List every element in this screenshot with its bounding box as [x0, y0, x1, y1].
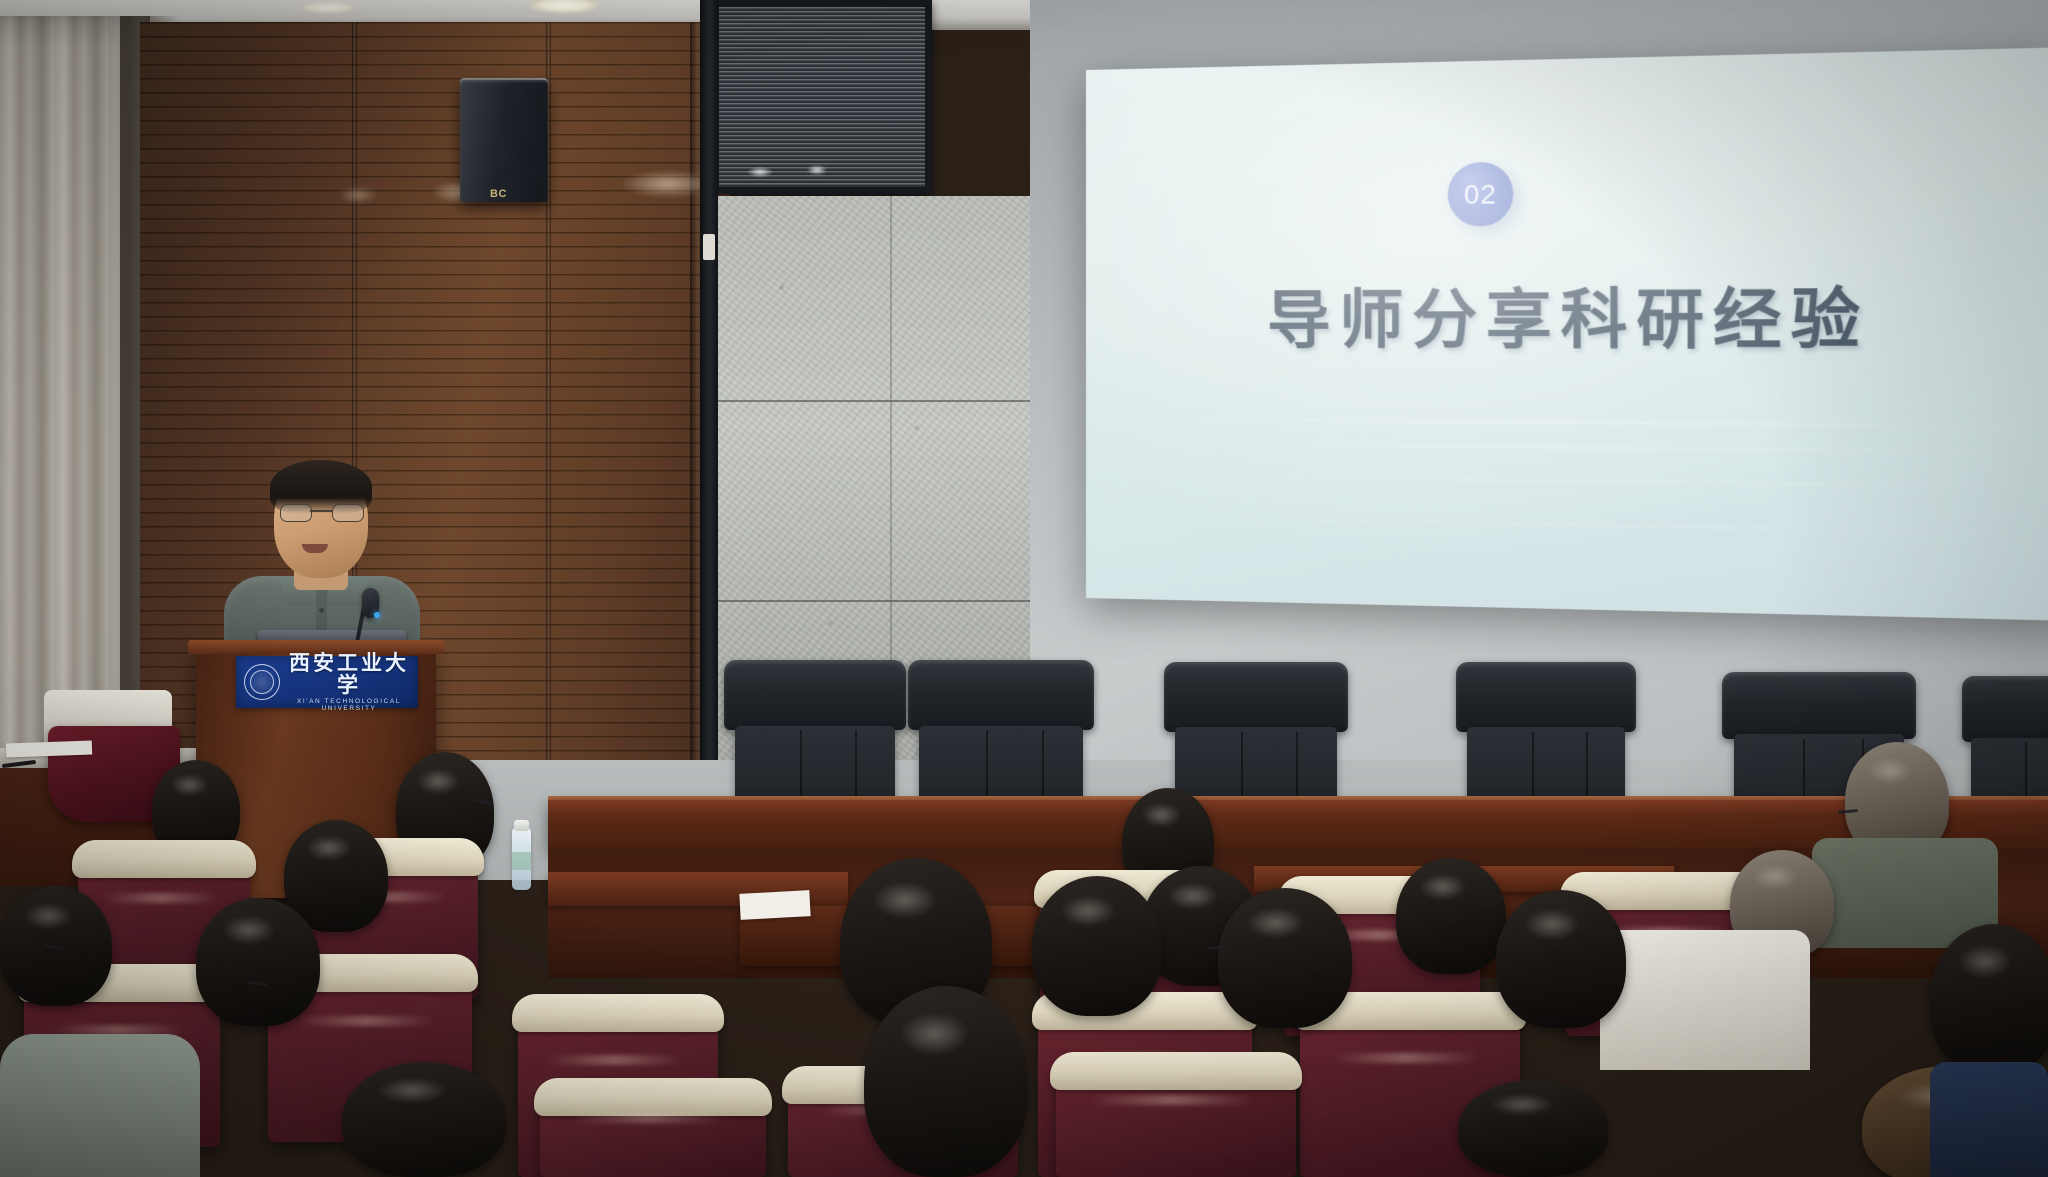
slide-wave [1086, 418, 2048, 427]
audience-head [1396, 858, 1506, 974]
shirt-button [319, 608, 324, 613]
section-number-badge: 02 [1448, 162, 1514, 227]
plaque-english-name: XI'AN TECHNOLOGICAL UNIVERSITY [280, 699, 418, 713]
wall-edge-trim [700, 0, 718, 806]
university-seal-icon [244, 664, 280, 700]
granite-seam [718, 600, 1038, 602]
auditorium-seat [540, 1086, 766, 1177]
audience-head [1032, 876, 1162, 1016]
speaker-icon [460, 80, 548, 202]
granite-seam [718, 400, 1038, 402]
desk-paper [6, 741, 92, 758]
glasses-icon [280, 504, 362, 520]
audience-torso [0, 1034, 200, 1177]
speaker-brand-label: BC [490, 188, 507, 200]
lecture-hall-photo: BC 02 导师分享科研经验 [0, 0, 2048, 1177]
slide-wave [1086, 442, 2048, 454]
blinds-icon [712, 0, 932, 194]
blind-glint [807, 165, 827, 175]
audience-head [196, 898, 320, 1026]
blind-glint [747, 167, 773, 177]
window-blinds [719, 7, 925, 187]
light-switch[interactable] [703, 234, 715, 260]
audience-head [1218, 888, 1352, 1028]
bottle-label [512, 852, 531, 870]
bottle-cap [514, 820, 529, 831]
slide-wave [1086, 474, 2048, 488]
plaque-chinese-name: 西安工业大学 [280, 652, 418, 696]
wall-glare [338, 186, 378, 204]
audience-torso [1600, 930, 1810, 1070]
ceiling-light-icon [300, 2, 356, 13]
auditorium-seat [1056, 1060, 1296, 1177]
audience-head [1458, 1080, 1608, 1177]
audience-head [342, 1062, 506, 1177]
audience-head [864, 986, 1028, 1177]
podium-plaque: 西安工业大学 XI'AN TECHNOLOGICAL UNIVERSITY [236, 656, 418, 708]
audience-torso [1930, 1062, 2048, 1177]
slide-title: 导师分享科研经验 [1196, 265, 1949, 362]
audience-head [1496, 890, 1626, 1028]
slide-wave [1086, 516, 2048, 534]
audience-head [1930, 924, 2048, 1074]
desk-paper [739, 890, 810, 920]
projection-screen: 02 导师分享科研经验 [1086, 47, 2048, 621]
microphone-led [374, 612, 380, 618]
